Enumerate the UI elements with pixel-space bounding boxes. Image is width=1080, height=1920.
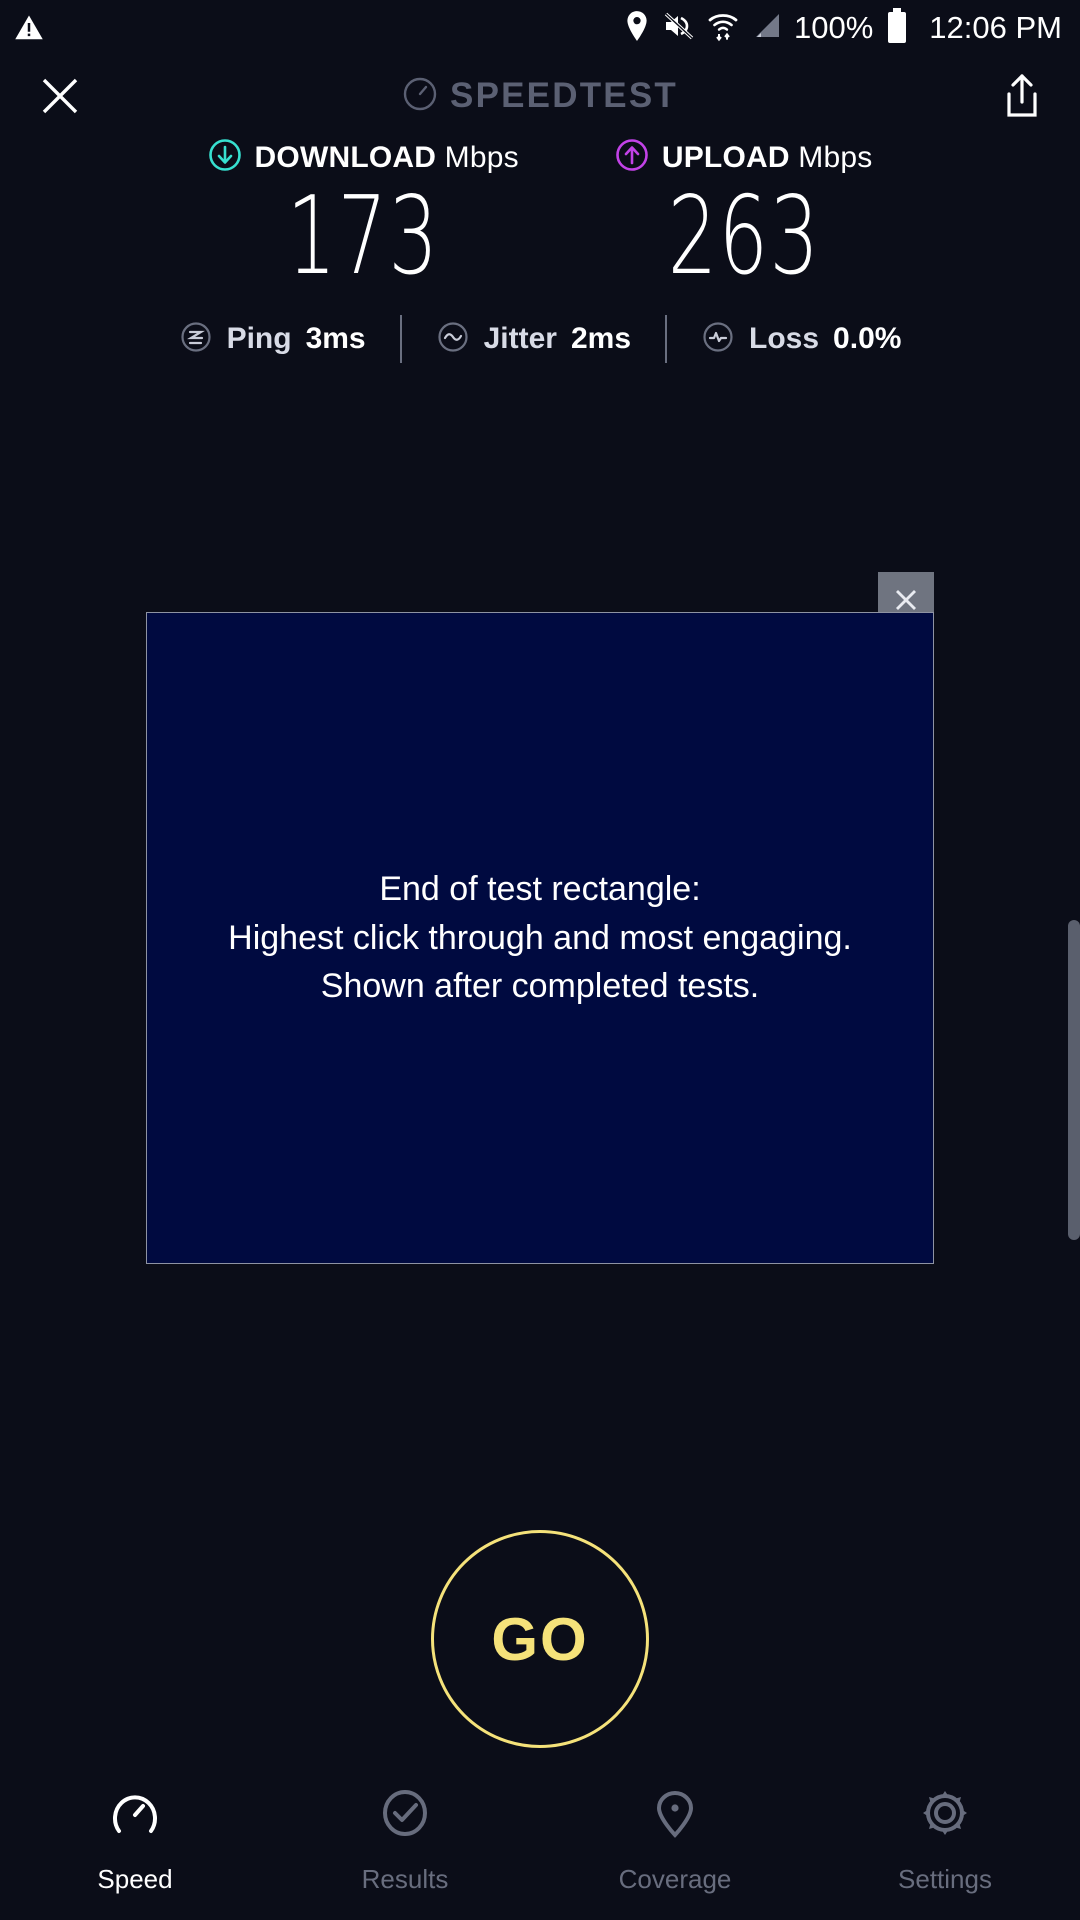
- upload-arrow-icon: [615, 138, 649, 177]
- ping-jitter-loss-row: Ping 3ms Jitter 2ms: [0, 315, 1080, 363]
- download-arrow-icon: [208, 138, 242, 177]
- download-unit: Mbps: [445, 141, 519, 174]
- ad-banner[interactable]: End of test rectangle: Highest click thr…: [146, 612, 934, 1264]
- speedtest-app-screen: 100% 12:06 PM S: [0, 0, 1080, 1920]
- loss-icon: [701, 320, 735, 359]
- download-upload-row: DOWNLOAD Mbps 173 UP: [0, 138, 1080, 291]
- brand-title: SPEEDTEST: [450, 76, 678, 116]
- mute-icon: [663, 11, 695, 46]
- nav-label-coverage: Coverage: [619, 1864, 732, 1895]
- loss-label: Loss: [749, 322, 819, 356]
- upload-metric: UPLOAD Mbps 263: [615, 138, 873, 291]
- download-header: DOWNLOAD Mbps: [208, 138, 519, 177]
- warning-triangle-icon: [14, 13, 44, 43]
- ping-icon: [179, 320, 213, 359]
- nav-label-settings: Settings: [898, 1864, 992, 1895]
- ad-line-1: End of test rectangle:: [228, 865, 852, 914]
- bottom-navigation: Speed Results Coverage: [0, 1760, 1080, 1920]
- close-icon: [891, 585, 921, 615]
- download-value: 173: [287, 183, 440, 291]
- status-bar: 100% 12:06 PM: [0, 0, 1080, 56]
- download-label-text: DOWNLOAD: [255, 141, 437, 174]
- jitter-stat: Jitter 2ms: [402, 320, 665, 359]
- nav-item-results[interactable]: Results: [270, 1785, 540, 1895]
- speedometer-icon: [107, 1785, 163, 1846]
- clock-time: 12:06 PM: [929, 10, 1062, 46]
- ad-text: End of test rectangle: Highest click thr…: [228, 865, 852, 1012]
- jitter-label: Jitter: [484, 322, 557, 356]
- nav-item-settings[interactable]: Settings: [810, 1785, 1080, 1895]
- download-metric: DOWNLOAD Mbps 173: [208, 138, 519, 291]
- download-label: DOWNLOAD Mbps: [255, 141, 519, 175]
- advertisement: End of test rectangle: Highest click thr…: [146, 612, 934, 1264]
- ping-label: Ping: [227, 322, 292, 356]
- status-bar-right: 100% 12:06 PM: [624, 8, 1062, 49]
- jitter-value: 2ms: [571, 322, 631, 356]
- upload-unit: Mbps: [798, 141, 872, 174]
- loss-value: 0.0%: [833, 322, 901, 356]
- wifi-icon: [708, 10, 738, 47]
- check-circle-icon: [377, 1785, 433, 1846]
- upload-label-text: UPLOAD: [662, 141, 790, 174]
- app-bar: SPEEDTEST: [0, 56, 1080, 136]
- nav-item-speed[interactable]: Speed: [0, 1785, 270, 1895]
- brand: SPEEDTEST: [0, 56, 1080, 136]
- jitter-icon: [436, 320, 470, 359]
- nav-label-speed: Speed: [97, 1864, 172, 1895]
- ping-stat: Ping 3ms: [145, 320, 400, 359]
- location-pin-icon: [624, 10, 650, 47]
- upload-header: UPLOAD Mbps: [615, 138, 873, 177]
- gear-icon: [917, 1785, 973, 1846]
- cellular-signal-icon: [751, 11, 781, 46]
- go-button[interactable]: GO: [431, 1530, 649, 1748]
- status-bar-left: [14, 13, 44, 43]
- nav-item-coverage[interactable]: Coverage: [540, 1785, 810, 1895]
- results-panel: DOWNLOAD Mbps 173 UP: [0, 138, 1080, 363]
- ping-value: 3ms: [306, 322, 366, 356]
- nav-label-results: Results: [362, 1864, 449, 1895]
- speedometer-icon: [402, 76, 438, 117]
- go-button-label: GO: [491, 1605, 588, 1674]
- loss-stat: Loss 0.0%: [667, 320, 935, 359]
- ad-line-3: Shown after completed tests.: [228, 962, 852, 1011]
- close-icon[interactable]: [38, 74, 82, 118]
- battery-percentage: 100%: [794, 10, 873, 46]
- location-pin-icon: [647, 1785, 703, 1846]
- battery-full-icon: [886, 8, 908, 49]
- share-icon[interactable]: [1002, 72, 1042, 120]
- upload-value: 263: [667, 183, 820, 291]
- upload-label: UPLOAD Mbps: [662, 141, 873, 175]
- scrollbar-thumb[interactable]: [1068, 920, 1080, 1240]
- ad-line-2: Highest click through and most engaging.: [228, 914, 852, 963]
